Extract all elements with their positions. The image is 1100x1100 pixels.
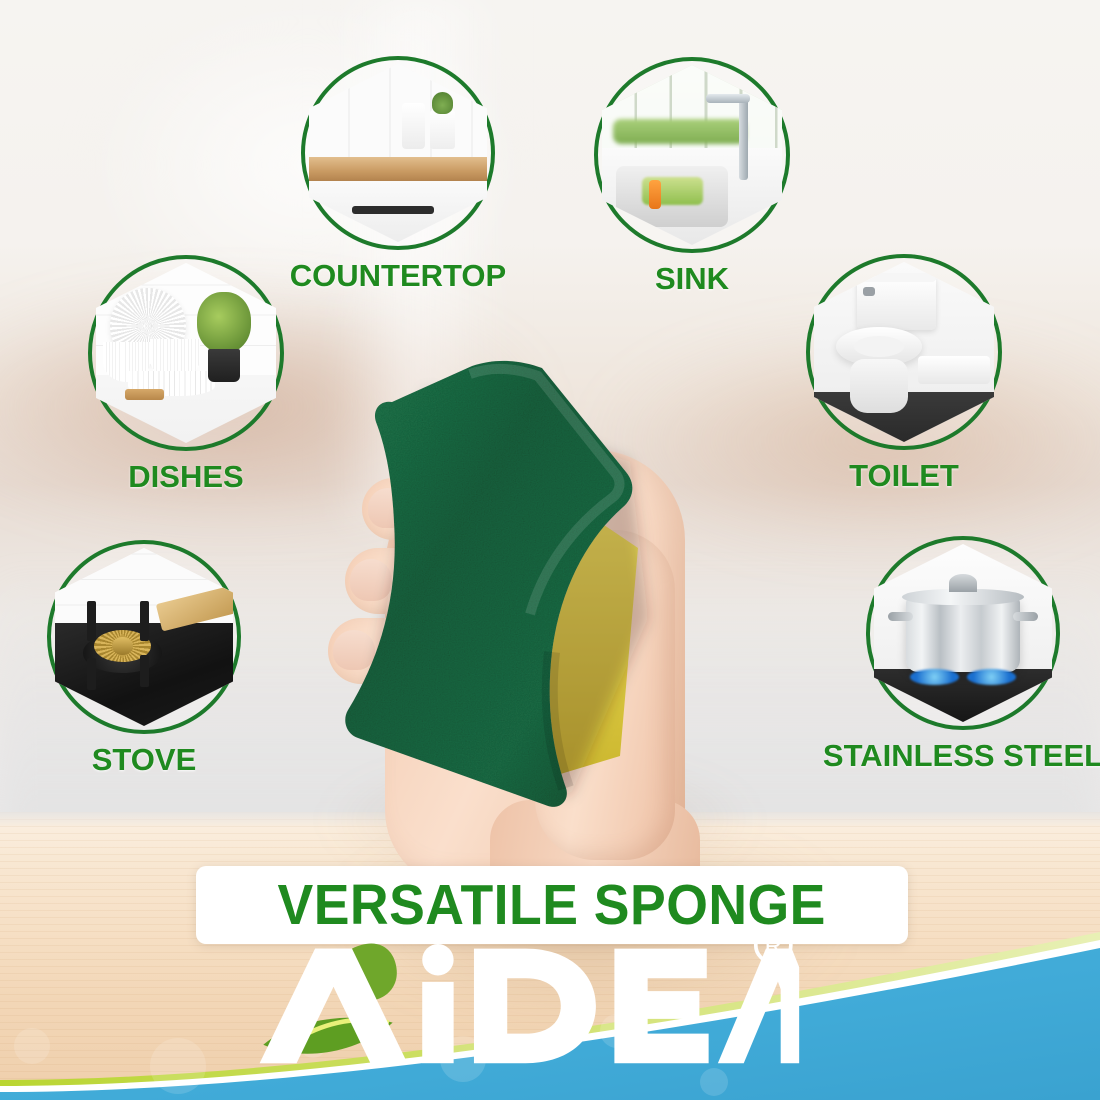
sink-photo bbox=[602, 65, 782, 245]
brand-banner: R bbox=[0, 930, 1100, 1100]
feature-stove[interactable]: STOVE bbox=[47, 540, 241, 734]
feature-dishes[interactable]: DISHES bbox=[88, 255, 284, 451]
feature-countertop[interactable]: COUNTERTOP bbox=[301, 56, 495, 250]
feature-ring-stainless-steel bbox=[866, 536, 1060, 730]
countertop-photo bbox=[309, 64, 487, 242]
feature-ring-stove bbox=[47, 540, 241, 734]
feature-image-toilet bbox=[814, 262, 994, 442]
feature-stainless-steel[interactable]: STAINLESS STEEL bbox=[866, 536, 1060, 730]
dishes-photo bbox=[96, 263, 276, 443]
feature-label-stainless-steel: STAINLESS STEEL bbox=[823, 738, 1100, 774]
feature-label-sink: SINK bbox=[655, 261, 729, 297]
feature-label-toilet: TOILET bbox=[849, 458, 959, 494]
feature-image-stove bbox=[55, 548, 233, 726]
feature-toilet[interactable]: TOILET bbox=[806, 254, 1002, 450]
feature-label-dishes: DISHES bbox=[128, 459, 243, 495]
stove-photo bbox=[55, 548, 233, 726]
scouring-sponge bbox=[320, 352, 650, 802]
svg-text:R: R bbox=[765, 933, 782, 960]
stainless-steel-photo bbox=[874, 544, 1052, 722]
feature-label-stove: STOVE bbox=[92, 742, 197, 778]
feature-ring-toilet bbox=[806, 254, 1002, 450]
toilet-photo bbox=[814, 262, 994, 442]
hand-holding-sponge bbox=[290, 330, 810, 890]
feature-ring-dishes bbox=[88, 255, 284, 451]
feature-image-countertop bbox=[309, 64, 487, 242]
feature-image-dishes bbox=[96, 263, 276, 443]
feature-label-countertop: COUNTERTOP bbox=[290, 258, 506, 294]
feature-ring-countertop bbox=[301, 56, 495, 250]
brand-logo: R bbox=[0, 994, 1072, 1078]
feature-image-stainless-steel bbox=[874, 544, 1052, 722]
feature-ring-sink bbox=[594, 57, 790, 253]
feature-image-sink bbox=[602, 65, 782, 245]
feature-sink[interactable]: SINK bbox=[594, 57, 790, 253]
product-infographic: COUNTERTOP SINK DISHES bbox=[0, 0, 1100, 1100]
